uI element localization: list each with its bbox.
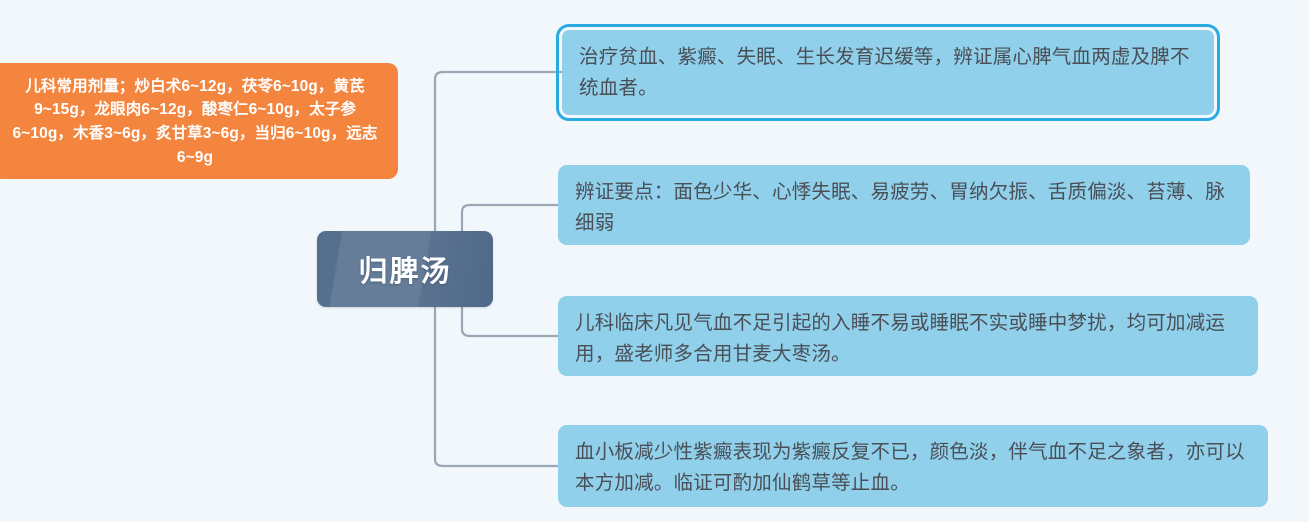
node-branch-indications-label: 治疗贫血、紫癜、失眠、生长发育迟缓等，辨证属心脾气血两虚及脾不统血者。 xyxy=(579,42,1198,104)
node-branch-indications[interactable]: 治疗贫血、紫癜、失眠、生长发育迟缓等，辨证属心脾气血两虚及脾不统血者。 xyxy=(562,30,1214,115)
node-branch-thrombocytopenic-purpura[interactable]: 血小板减少性紫癜表现为紫癜反复不已，颜色淡，伴气血不足之象者，亦可以本方加减。临… xyxy=(558,425,1268,507)
node-pediatric-dosage-label: 儿科常用剂量；炒白术6~12g，茯苓6~10g，黄芪9~15g，龙眼肉6~12g… xyxy=(6,75,384,169)
node-branch-syndrome-key-points[interactable]: 辨证要点：面色少华、心悸失眠、易疲劳、胃纳欠振、舌质偏淡、苔薄、脉细弱 xyxy=(558,165,1250,245)
node-branch-pediatric-clinical-use-label: 儿科临床凡见气血不足引起的入睡不易或睡眠不实或睡中梦扰，均可加减运用，盛老师多合… xyxy=(575,308,1242,370)
node-branch-thrombocytopenic-purpura-label: 血小板减少性紫癜表现为紫癜反复不已，颜色淡，伴气血不足之象者，亦可以本方加减。临… xyxy=(575,437,1252,499)
node-pediatric-dosage[interactable]: 儿科常用剂量；炒白术6~12g，茯苓6~10g，黄芪9~15g，龙眼肉6~12g… xyxy=(0,63,398,179)
node-branch-pediatric-clinical-use[interactable]: 儿科临床凡见气血不足引起的入睡不易或睡眠不实或睡中梦扰，均可加减运用，盛老师多合… xyxy=(558,296,1258,376)
mindmap-canvas: 儿科常用剂量；炒白术6~12g，茯苓6~10g，黄芪9~15g，龙眼肉6~12g… xyxy=(0,0,1309,522)
node-branch-syndrome-key-points-label: 辨证要点：面色少华、心悸失眠、易疲劳、胃纳欠振、舌质偏淡、苔薄、脉细弱 xyxy=(575,177,1234,239)
node-central-label: 归脾汤 xyxy=(358,248,451,290)
node-central-guipi-tang[interactable]: 归脾汤 xyxy=(317,231,493,307)
